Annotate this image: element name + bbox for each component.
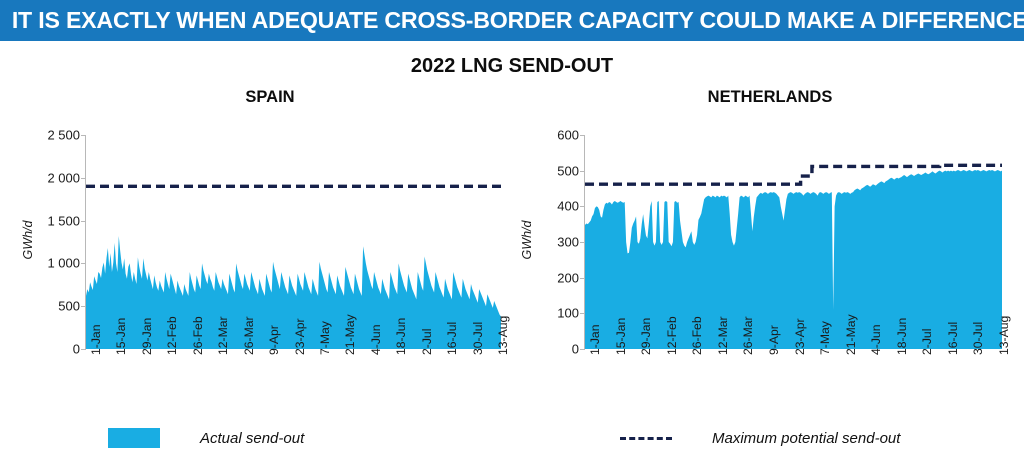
legend-label-maximum: Maximum potential send-out: [712, 430, 900, 447]
x-tick-label: 1-Jan: [89, 325, 103, 356]
x-tick-label: 21-May: [844, 314, 858, 355]
x-axis-labels-spain: 1-Jan15-Jan29-Jan12-Feb26-Feb12-Mar26-Ma…: [85, 351, 500, 423]
x-tick-label: 12-Feb: [665, 316, 679, 355]
x-tick-label: 18-Jun: [895, 318, 909, 355]
y-tick-mark: [81, 178, 86, 179]
x-tick-label: 30-Jul: [471, 322, 485, 355]
y-tick-mark: [81, 349, 86, 350]
y-tick-label: 0: [73, 342, 80, 357]
x-tick-label: 7-May: [318, 321, 332, 355]
x-tick-label: 26-Feb: [191, 316, 205, 355]
y-tick-mark: [81, 135, 86, 136]
x-tick-label: 16-Jul: [946, 322, 960, 355]
x-tick-label: 15-Jan: [114, 318, 128, 355]
y-tick-label: 2 500: [47, 128, 80, 143]
x-tick-label: 7-May: [818, 321, 832, 355]
banner-title: IT IS EXACTLY WHEN ADEQUATE CROSS-BORDER…: [0, 7, 1024, 34]
y-tick-label: 500: [58, 299, 80, 314]
x-tick-label: 4-Jun: [369, 325, 383, 356]
x-tick-label: 29-Jan: [639, 318, 653, 355]
x-tick-label: 12-Mar: [716, 316, 730, 355]
x-tick-label: 12-Mar: [216, 316, 230, 355]
y-tick-mark: [580, 349, 585, 350]
x-tick-label: 2-Jul: [920, 329, 934, 355]
y-axis-labels-spain: 05001 0001 5002 0002 500: [34, 135, 80, 349]
x-tick-label: 4-Jun: [869, 325, 883, 356]
y-tick-label: 1 000: [47, 256, 80, 271]
y-tick-mark: [580, 171, 585, 172]
x-tick-label: 23-Apr: [293, 318, 307, 355]
y-tick-label: 200: [557, 270, 579, 285]
y-tick-mark: [580, 206, 585, 207]
x-tick-label: 1-Jan: [588, 325, 602, 356]
y-axis-title-spain: GWh/d: [21, 205, 35, 275]
y-tick-label: 1 500: [47, 213, 80, 228]
x-tick-label: 23-Apr: [793, 318, 807, 355]
x-tick-label: 2-Jul: [420, 329, 434, 355]
x-tick-label: 9-Apr: [267, 325, 281, 355]
legend-swatch-actual: [108, 428, 160, 448]
y-tick-label: 300: [557, 235, 579, 250]
x-axis-labels-netherlands: 1-Jan15-Jan29-Jan12-Feb26-Feb12-Mar26-Ma…: [584, 351, 1001, 423]
y-tick-mark: [81, 263, 86, 264]
y-tick-label: 400: [557, 199, 579, 214]
y-tick-mark: [580, 242, 585, 243]
y-tick-mark: [81, 306, 86, 307]
chart-spain: GWh/d 05001 0001 5002 0002 500 1-Jan15-J…: [0, 120, 512, 420]
y-tick-label: 500: [557, 163, 579, 178]
y-tick-mark: [81, 221, 86, 222]
legend-maximum: Maximum potential send-out: [620, 428, 900, 448]
chart-title-spain: SPAIN: [30, 88, 510, 107]
y-tick-mark: [580, 313, 585, 314]
x-tick-label: 29-Jan: [140, 318, 154, 355]
legend-actual: Actual send-out: [108, 428, 304, 448]
y-tick-mark: [580, 135, 585, 136]
x-tick-label: 26-Feb: [690, 316, 704, 355]
x-tick-label: 13-Aug: [496, 316, 510, 355]
x-tick-label: 21-May: [343, 314, 357, 355]
y-tick-label: 600: [557, 128, 579, 143]
y-axis-labels-netherlands: 0100200300400500600: [533, 135, 579, 349]
x-tick-label: 18-Jun: [394, 318, 408, 355]
x-tick-label: 16-Jul: [445, 322, 459, 355]
x-tick-label: 9-Apr: [767, 325, 781, 355]
legend-label-actual: Actual send-out: [200, 430, 304, 447]
actual-series-icon: [108, 428, 160, 448]
y-tick-label: 100: [557, 306, 579, 321]
legend-swatch-maximum: [620, 428, 672, 448]
chart-netherlands: GWh/d 0100200300400500600 1-Jan15-Jan29-…: [512, 120, 1024, 420]
maximum-series-icon: [620, 437, 672, 440]
y-tick-mark: [580, 278, 585, 279]
y-axis-title-netherlands: GWh/d: [520, 205, 534, 275]
x-tick-label: 26-Mar: [242, 316, 256, 355]
x-tick-label: 12-Feb: [165, 316, 179, 355]
y-tick-label: 0: [572, 342, 579, 357]
x-tick-label: 13-Aug: [997, 316, 1011, 355]
chart-title-netherlands: NETHERLANDS: [530, 88, 1010, 107]
x-tick-label: 26-Mar: [741, 316, 755, 355]
header-banner: IT IS EXACTLY WHEN ADEQUATE CROSS-BORDER…: [0, 0, 1024, 41]
x-tick-label: 30-Jul: [971, 322, 985, 355]
y-tick-label: 2 000: [47, 170, 80, 185]
x-tick-label: 15-Jan: [614, 318, 628, 355]
page-title: 2022 LNG SEND-OUT: [0, 55, 1024, 78]
